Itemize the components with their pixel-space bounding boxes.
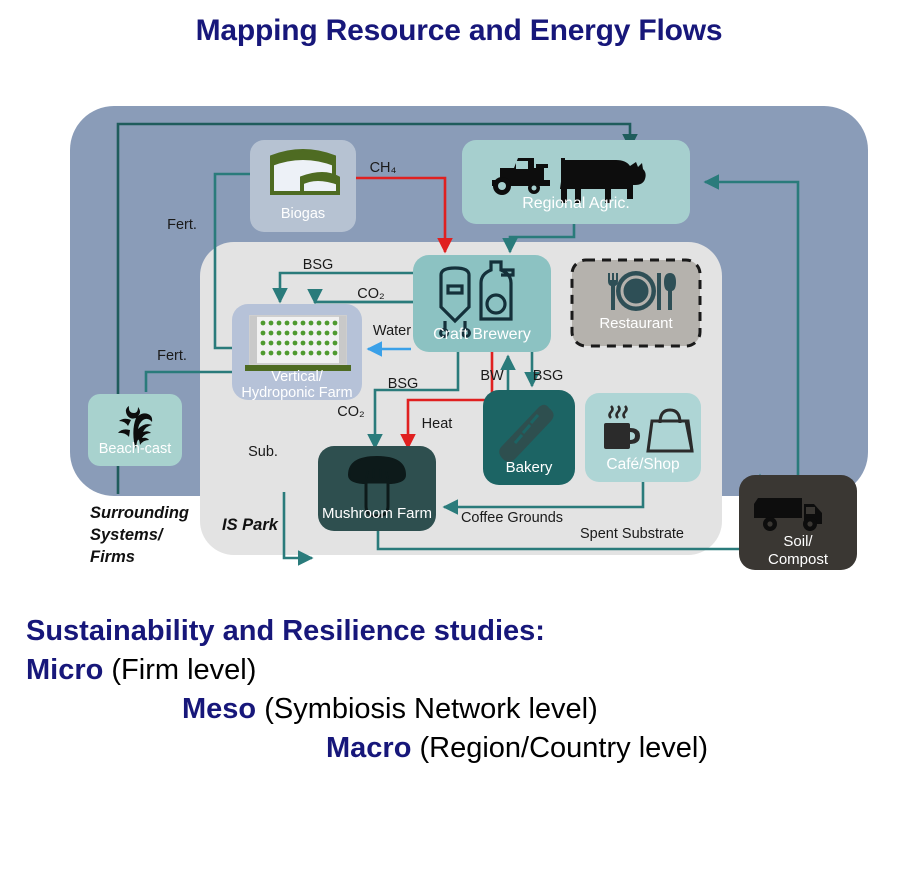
zone-label-line1: Surrounding xyxy=(90,504,189,522)
node-soil-compost[interactable]: Soil/ Compost xyxy=(739,475,857,570)
node-label-soil-line1: Soil/ xyxy=(783,533,813,550)
zone-label-is-park: IS Park xyxy=(222,516,279,534)
node-mushroom-farm[interactable]: Mushroom Farm xyxy=(318,446,436,531)
bottom-text-block: Sustainability and Resilience studies: M… xyxy=(26,612,906,767)
page-title: Mapping Resource and Energy Flows xyxy=(0,14,918,48)
flow-label-co2-mushroom: CO₂ xyxy=(337,404,364,420)
hydroponic-rack-icon xyxy=(245,316,351,371)
node-bakery[interactable]: Bakery xyxy=(483,390,575,485)
zone-label-surrounding-systems: Surrounding Systems/ Firms xyxy=(90,504,189,566)
bottom-line-micro-rest: (Firm level) xyxy=(103,654,256,686)
slide-canvas: Mapping Resource and Energy Flows xyxy=(0,0,918,894)
resource-flow-diagram: Biogas Regional Agric. xyxy=(0,90,918,590)
flow-label-fert-top: Fert. xyxy=(167,217,197,233)
flow-label-ch4: CH₄ xyxy=(370,160,397,176)
node-vertical-hydroponic-farm[interactable]: Vertical/ Hydroponic Farm xyxy=(232,304,362,401)
flow-label-water: Water xyxy=(373,323,411,339)
node-craft-brewery[interactable]: Craft Brewery xyxy=(413,255,551,352)
bottom-line-macro: Macro (Region/Country level) xyxy=(326,729,906,768)
node-label-cafe-shop: Café/Shop xyxy=(606,456,679,473)
flow-label-bsg-top: BSG xyxy=(303,257,334,273)
flow-label-fert-bottom: Fert. xyxy=(157,348,187,364)
zone-label-line2: Systems/ xyxy=(90,526,165,544)
node-label-bakery: Bakery xyxy=(506,459,553,476)
flow-label-bsg-bakery: BSG xyxy=(533,368,564,384)
flow-label-spent-substrate: Spent Substrate xyxy=(580,526,684,542)
node-label-beach-cast: Beach-cast xyxy=(99,441,172,457)
bottom-heading: Sustainability and Resilience studies: xyxy=(26,612,906,651)
bottom-line-meso: Meso (Symbiosis Network level) xyxy=(182,690,906,729)
node-biogas[interactable]: Biogas xyxy=(250,140,356,232)
node-restaurant[interactable]: Restaurant xyxy=(572,260,700,346)
flow-label-sub: Sub. xyxy=(248,444,278,460)
node-label-mushroom-farm: Mushroom Farm xyxy=(322,505,432,522)
node-label-craft-brewery: Craft Brewery xyxy=(433,326,531,343)
flow-label-co2-top: CO₂ xyxy=(357,286,384,302)
flow-label-heat: Heat xyxy=(422,416,453,432)
node-label-soil-line2: Compost xyxy=(768,551,829,568)
bottom-line-meso-rest: (Symbiosis Network level) xyxy=(256,693,598,725)
bottom-line-macro-rest: (Region/Country level) xyxy=(411,732,708,764)
flow-label-coffee-grounds: Coffee Grounds xyxy=(461,510,563,526)
node-regional-agric[interactable]: Regional Agric. xyxy=(462,140,690,224)
bottom-line-micro: Micro (Firm level) xyxy=(26,651,906,690)
node-cafe-shop[interactable]: Café/Shop xyxy=(585,393,701,482)
bottom-line-meso-bold: Meso xyxy=(182,693,256,725)
flow-label-bw: BW xyxy=(480,368,504,384)
node-label-restaurant: Restaurant xyxy=(599,315,673,332)
node-label-vertical-farm-line2: Hydroponic Farm xyxy=(241,385,352,401)
bottom-line-macro-bold: Macro xyxy=(326,732,411,764)
bottom-line-micro-bold: Micro xyxy=(26,654,103,686)
zone-label-line3: Firms xyxy=(90,548,135,566)
node-label-vertical-farm-line1: Vertical/ xyxy=(271,369,324,385)
flow-label-bsg-mushroom: BSG xyxy=(388,376,419,392)
node-beach-cast[interactable]: Beach-cast xyxy=(88,394,182,466)
biogas-tank-icon xyxy=(272,151,338,193)
node-label-regional-agric: Regional Agric. xyxy=(522,195,630,212)
node-label-biogas: Biogas xyxy=(281,206,325,222)
